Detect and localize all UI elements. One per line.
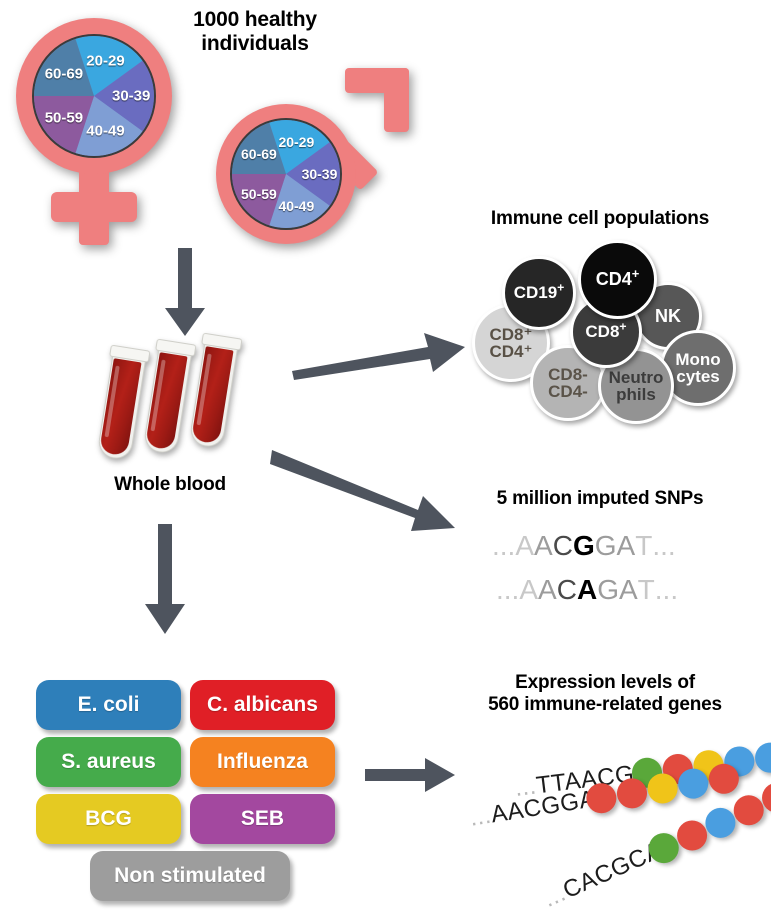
expression-bead <box>753 741 771 774</box>
cell-label: CD8⁺CD4⁺ <box>490 326 533 361</box>
cell-label: CD8+ <box>585 323 626 340</box>
cell-label: Neutrophils <box>609 369 664 404</box>
strand-ellipsis: ... <box>468 802 493 832</box>
cell-label: CD4+ <box>596 270 640 288</box>
cell-cd4[interactable]: CD4+ <box>578 240 657 319</box>
cell-label: NK <box>655 307 681 325</box>
cell-label: CD19+ <box>514 284 565 301</box>
strand-ellipsis: ... <box>539 879 570 912</box>
strand-2: ...AACGGAT <box>467 802 472 836</box>
strand-3: ...CACGCAA <box>538 885 552 916</box>
cell-cd19[interactable]: CD19+ <box>502 256 576 330</box>
expression-strands: ...TTAACGG...AACGGAT...CACGCAA <box>0 0 771 922</box>
cell-label: Monocytes <box>675 351 720 386</box>
cell-label: CD8-CD4- <box>548 366 588 401</box>
